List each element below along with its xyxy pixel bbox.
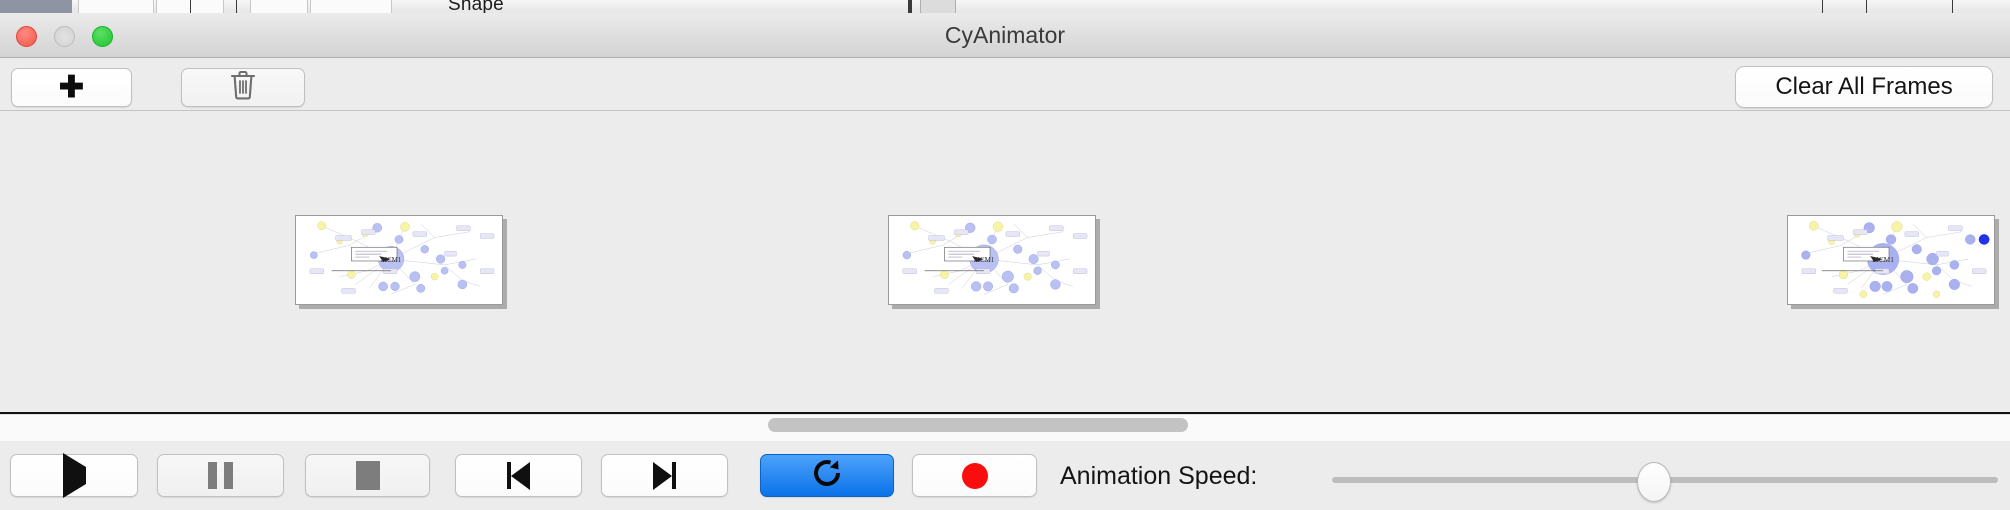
stop-button[interactable] xyxy=(305,454,430,497)
trash-icon xyxy=(230,70,256,105)
title-bar: CyAnimator xyxy=(0,13,2010,58)
loop-icon xyxy=(811,457,843,494)
timeline-panel[interactable]: MCM1 xyxy=(0,111,2010,414)
clear-all-frames-label: Clear All Frames xyxy=(1775,73,1952,101)
skip-back-button[interactable] xyxy=(455,454,582,497)
window-title: CyAnimator xyxy=(0,13,2010,57)
record-icon xyxy=(962,463,988,489)
pause-icon xyxy=(208,462,233,489)
background-tab-1 xyxy=(78,0,154,13)
play-button[interactable] xyxy=(10,454,138,497)
record-button[interactable] xyxy=(912,454,1037,497)
pause-button[interactable] xyxy=(157,454,284,497)
background-tab-4 xyxy=(310,0,392,13)
svg-text:MCM1: MCM1 xyxy=(1872,255,1894,264)
background-mark-2 xyxy=(236,0,237,13)
background-mark-6 xyxy=(1952,0,1953,13)
stop-icon xyxy=(356,461,380,490)
frame-thumbnail-3[interactable]: MCM1 xyxy=(1787,215,1995,305)
background-tab-active xyxy=(0,0,72,13)
frame-thumbnail-1[interactable]: MCM1 xyxy=(295,215,503,305)
background-tab-3 xyxy=(250,0,308,13)
animation-speed-label: Animation Speed: xyxy=(1060,462,1257,491)
frame-thumbnail-2[interactable]: MCM1 xyxy=(888,215,1096,305)
svg-text:MCM1: MCM1 xyxy=(974,257,995,264)
playback-bar: Animation Speed: xyxy=(0,441,2010,510)
skip-forward-icon xyxy=(653,462,676,490)
cyanimator-window: Shape CyAnimator ✚ Clea xyxy=(0,0,2010,510)
background-mark-5 xyxy=(1866,0,1867,13)
background-mark-1 xyxy=(190,0,191,13)
plus-icon: ✚ xyxy=(59,73,84,103)
add-frame-button[interactable]: ✚ xyxy=(11,68,132,107)
background-notch xyxy=(920,0,956,13)
delete-frame-button[interactable] xyxy=(181,68,305,107)
skip-back-icon xyxy=(507,462,530,490)
background-window-label: Shape xyxy=(448,0,504,14)
loop-button[interactable] xyxy=(760,454,894,497)
frame-toolbar: ✚ Clear All Frames xyxy=(0,58,2010,111)
svg-text:MCM1: MCM1 xyxy=(381,257,402,264)
animation-speed-slider-handle[interactable] xyxy=(1637,462,1671,502)
background-mark-4 xyxy=(1822,0,1823,13)
skip-forward-button[interactable] xyxy=(601,454,728,497)
background-window-strip: Shape xyxy=(0,0,2010,14)
background-mark-3 xyxy=(908,0,912,13)
clear-all-frames-button[interactable]: Clear All Frames xyxy=(1735,66,1993,108)
horizontal-scrollbar-thumb[interactable] xyxy=(768,418,1188,432)
